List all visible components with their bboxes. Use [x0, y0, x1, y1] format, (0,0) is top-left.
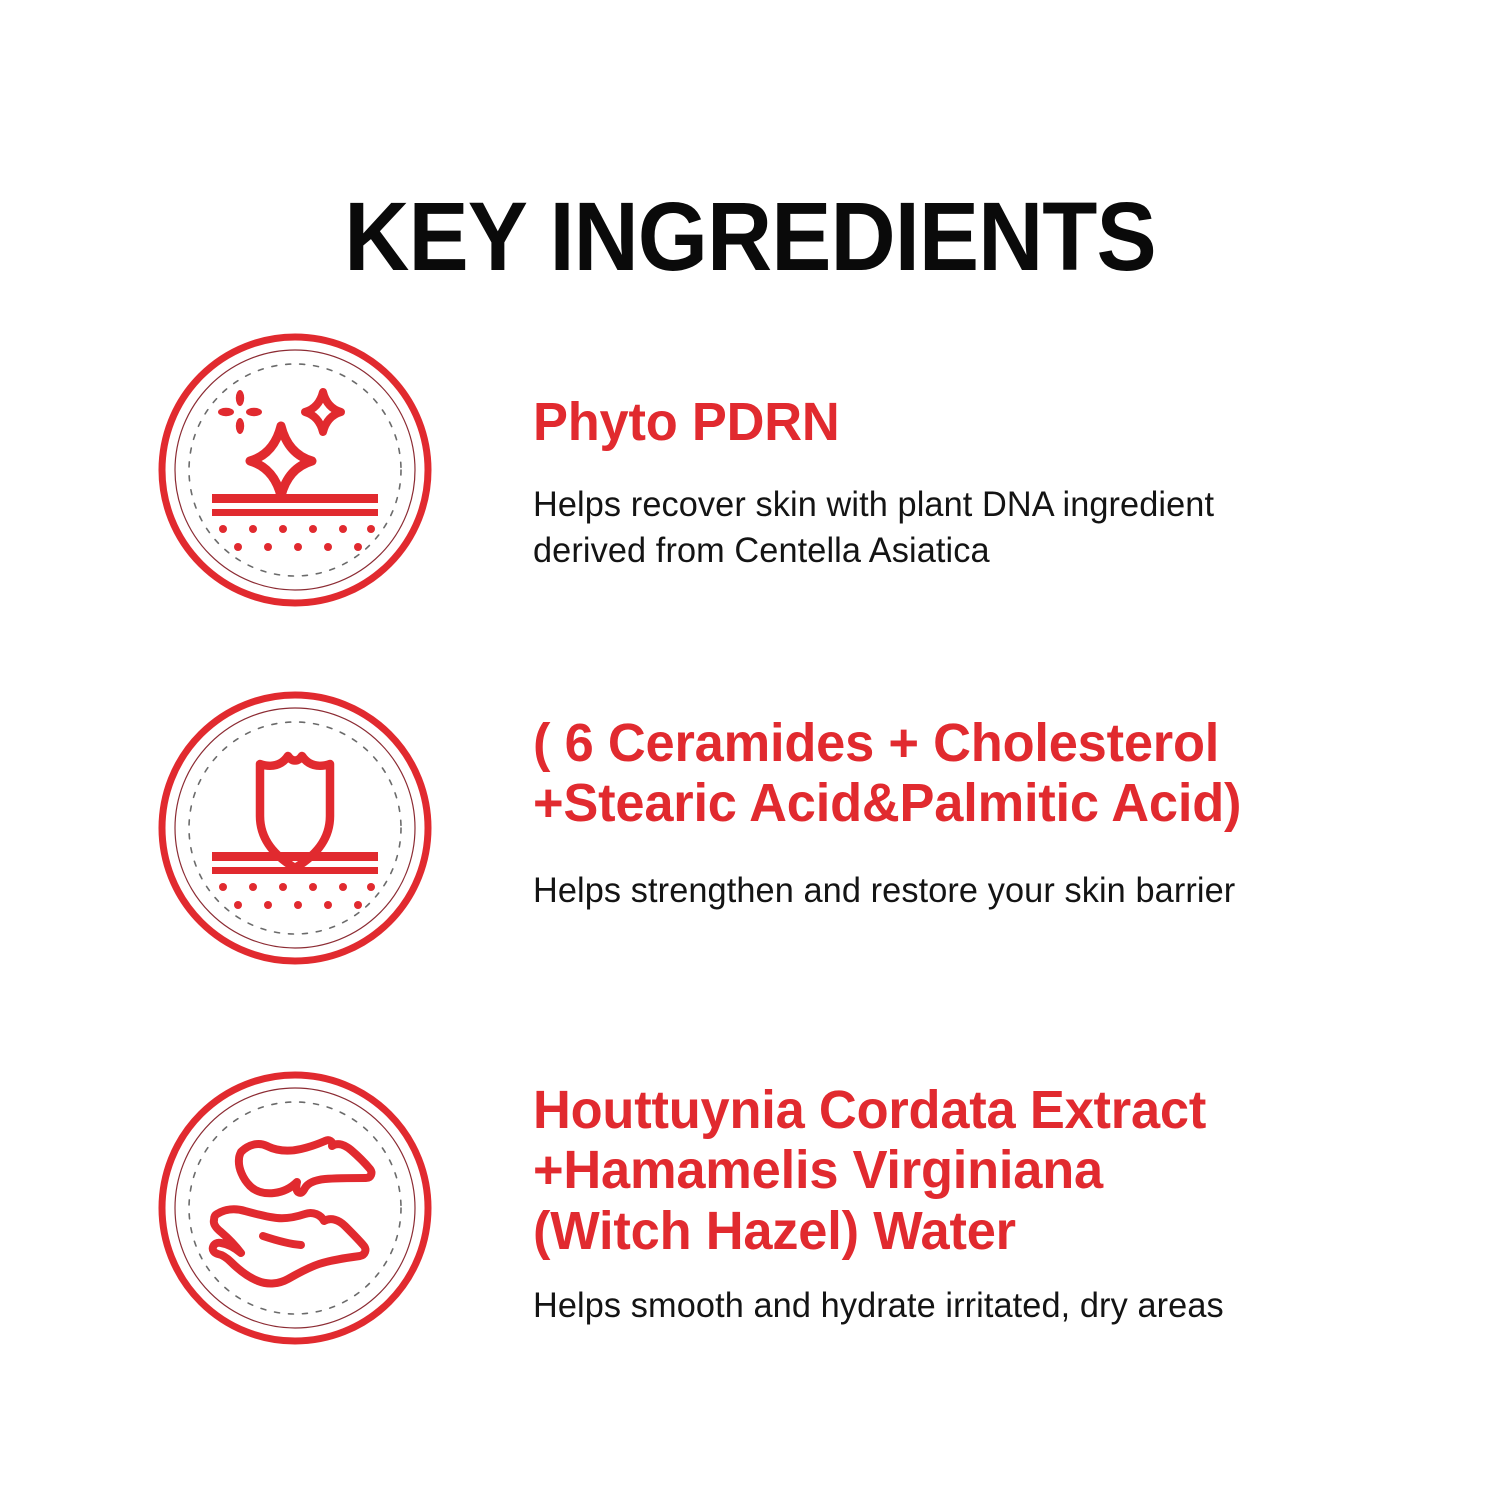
ingredient-description: Helps recover skin with plant DNA ingred… — [533, 482, 1219, 574]
ingredient-name: ( 6 Ceramides + Cholesterol +Stearic Aci… — [533, 713, 1387, 834]
ingredient-item: Phyto PDRN Helps recover skin with plant… — [0, 330, 1500, 630]
page-title: KEY INGREDIENTS — [53, 188, 1448, 285]
ingredient-item: Houttuynia Cordata Extract +Hamamelis Vi… — [0, 1068, 1500, 1368]
ingredient-item: ( 6 Ceramides + Cholesterol +Stearic Aci… — [0, 688, 1500, 988]
ingredient-description: Helps strengthen and restore your skin b… — [533, 868, 1278, 914]
ingredient-description: Helps smooth and hydrate irritated, dry … — [533, 1283, 1278, 1329]
ingredient-name: Houttuynia Cordata Extract +Hamamelis Vi… — [533, 1080, 1212, 1261]
ingredient-name: Phyto PDRN — [533, 392, 840, 452]
caring-hands-icon — [155, 1068, 435, 1348]
key-ingredients-page: KEY INGREDIENTS — [0, 0, 1500, 1500]
sparkle-skin-layers-icon — [155, 330, 435, 610]
shield-skin-barrier-icon — [155, 688, 435, 968]
